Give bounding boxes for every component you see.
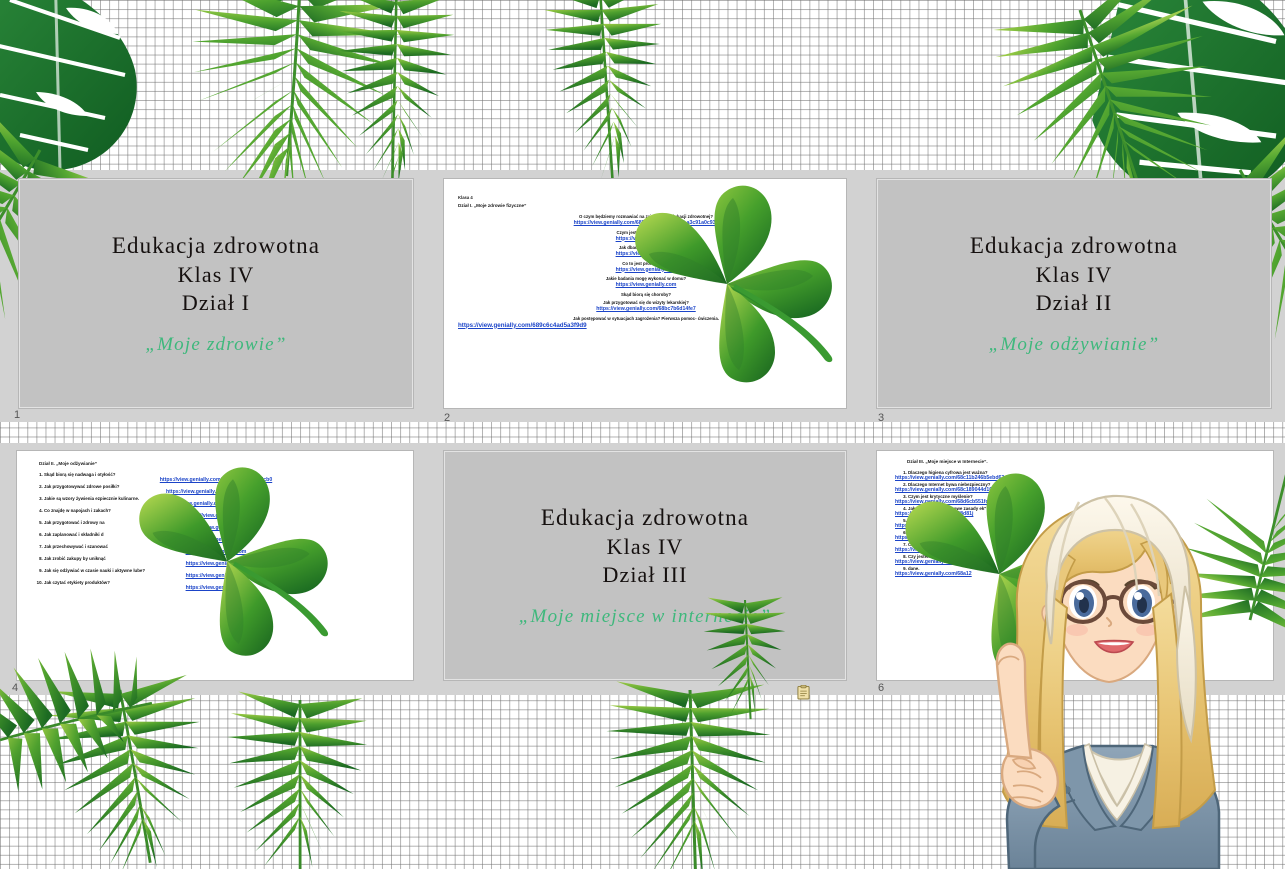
slide2-q-6: Skąd biorą się choroby?	[458, 292, 834, 297]
slide4-document: Dział II. „Moje odżywianie” Skąd biorą s…	[17, 451, 413, 680]
slide-number-1: 1	[14, 409, 20, 421]
slide6-link-4[interactable]: https://view.genially.com/68d81j	[895, 511, 1261, 517]
slide4-item-8: Jak zrobić zakupy by uniknąć https://vie…	[44, 556, 401, 567]
slide3-line-1: Edukacja zdrowotna	[970, 231, 1178, 260]
slide4-q-5: Jak przygotować i zdrowy na	[44, 520, 105, 525]
slide4-item-6: Jak zaplanować i składniki d https://vie…	[44, 532, 401, 543]
slide4-q-8: Jak zrobić zakupy by uniknąć	[44, 556, 106, 561]
slide4-link-1[interactable]: https://view.genially.com/689e21da4b525d…	[31, 477, 401, 483]
slide4-q-10: Jak czytać etykiety produktów?	[44, 580, 110, 585]
slide4-link-2[interactable]: https://view.genially.com/689d475c4eaa4	[31, 489, 401, 495]
slide6-item-8: Czy jestem anonimowy w https://view.geni…	[908, 554, 1261, 565]
slide6-link-9[interactable]: https://view.genially.com/68a12	[895, 571, 1261, 577]
slide6-item-3: Czym jest krytyczne myślenie? https://vi…	[908, 494, 1261, 505]
slide2-link-7[interactable]: https://view.genially.com/68bc7b6d14fe7	[458, 306, 834, 312]
slide1-line-1: Edukacja zdrowotna	[112, 231, 320, 260]
slide2-q-1: O czym będziemy rozmawiać na zajęciach z…	[458, 214, 834, 219]
slide-sorter-canvas: Edukacja zdrowotna Klas IV Dział I „Moje…	[0, 0, 1285, 869]
slide-number-4: 4	[12, 682, 18, 694]
slide4-q-1: Skąd biorą się nadwaga i otyłość?	[44, 472, 116, 477]
slide2-title: Dział I. „Moje zdrowie fizyczne”	[458, 203, 834, 208]
slide2-q-8: Jak postępować w sytuacjach zagrożenia? …	[458, 316, 834, 321]
slide4-link-6[interactable]: https://view.genially.com	[31, 537, 401, 543]
slide6-item-9: dane. https://view.genially.com/68a12	[908, 566, 1261, 577]
slide2-header: Klasa 4	[458, 195, 834, 200]
slide2-q-2: Czym jest zdrowy styl życia?	[458, 230, 834, 235]
slide4-q-2: Jak przygotowywać zdrowe posiłki?	[44, 484, 119, 489]
slide-number-6: 6	[878, 682, 884, 694]
slide2-link-4[interactable]: https://view.genially.com	[458, 267, 834, 273]
slide-number-2: 2	[444, 412, 450, 424]
slide4-link-10[interactable]: https://view.genially.com	[31, 585, 401, 591]
slide4-link-4[interactable]: https://view.genially.com	[31, 513, 401, 519]
slide5-line-3: Dział III	[602, 561, 687, 589]
slide3-accent: „Moje odżywianie”	[989, 334, 1160, 356]
slide6-item-5: Czym jest grooming? https://view.geniall…	[908, 518, 1261, 529]
slide-thumbnail-2[interactable]: Klasa 4 Dział I. „Moje zdrowie fizyczne”…	[443, 178, 847, 409]
slide4-item-10: Jak czytać etykiety produktów? https://v…	[44, 580, 401, 591]
slide4-q-7: Jak przechowywać i szanować	[44, 544, 108, 549]
slide6-item-4: Jak zaplanować "domowe zasady ek" https:…	[908, 506, 1261, 517]
slide2-q-4: Co to jest profilaktyka?	[458, 261, 834, 266]
slide1-accent: „Moje zdrowie”	[145, 334, 286, 356]
slide6-link-6[interactable]: https://view.genially.com/68da	[895, 535, 1261, 541]
slide5-accent: „Moje miejsce w internecie”	[519, 606, 771, 628]
slide-thumbnail-3[interactable]: Edukacja zdrowotna Klas IV Dział II „Moj…	[876, 178, 1272, 409]
slide4-link-5[interactable]: https://view.genially.com	[31, 525, 401, 531]
slide3-line-3: Dział II	[1036, 289, 1113, 317]
notes-clipboard-icon	[797, 685, 810, 700]
slide4-q-9: Jak się odżywiać w czasie nauki i aktywn…	[44, 568, 145, 573]
slide6-link-3[interactable]: https://view.genially.com/68d6cb551fc46a…	[895, 499, 1261, 505]
slide-thumbnail-4[interactable]: Dział II. „Moje odżywianie” Skąd biorą s…	[16, 450, 414, 681]
slide-thumbnail-6[interactable]: Dział III. „Moje miejsce w Internecie”. …	[876, 450, 1274, 681]
slide4-q-4: Co znajdę w napojach i zakach?	[44, 508, 111, 513]
slide2-link-1[interactable]: https://view.genially.com/6885-c0b0df7c-…	[458, 220, 834, 226]
slide4-link-8[interactable]: https://view.genially.com	[31, 561, 401, 567]
slides-layer: Edukacja zdrowotna Klas IV Dział I „Moje…	[0, 0, 1285, 869]
slide6-item-7: Czym jest cyberstalking? https://view.ge…	[908, 542, 1261, 553]
slide2-q-7: Jak przygotować się do wizyty lekarskiej…	[458, 300, 834, 305]
slide4-q-6: Jak zaplanować i składniki d	[44, 532, 104, 537]
slide-thumbnail-1[interactable]: Edukacja zdrowotna Klas IV Dział I „Moje…	[18, 178, 414, 409]
slide4-item-9: Jak się odżywiać w czasie nauki i aktywn…	[44, 568, 401, 579]
slide4-link-7[interactable]: https://view.genially.com	[31, 549, 401, 555]
slide2-link-2[interactable]: https://view.genially.com	[458, 236, 834, 242]
slide3-line-2: Klas IV	[1036, 261, 1113, 289]
slide6-link-1[interactable]: https://view.genially.com/68c11b246b5ebd…	[895, 475, 1261, 481]
slide2-q-3: Jak dbać o swoją higienę?	[458, 245, 834, 250]
slide4-item-3: Jakie są wzory żywienia ezpiecznie kulin…	[44, 496, 401, 507]
slide4-item-7: Jak przechowywać i szanować https://view…	[44, 544, 401, 555]
slide5-line-2: Klas IV	[607, 533, 684, 561]
slide6-link-2[interactable]: https://view.genially.com/68c189044d105c…	[895, 487, 1261, 493]
slide6-title: Dział III. „Moje miejsce w Internecie”.	[907, 459, 1261, 464]
slide-thumbnail-5[interactable]: Edukacja zdrowotna Klas IV Dział III „Mo…	[443, 450, 847, 681]
slide1-line-3: Dział I	[182, 289, 250, 317]
slide2-document: Klasa 4 Dział I. „Moje zdrowie fizyczne”…	[444, 179, 846, 408]
slide1-line-2: Klas IV	[178, 261, 255, 289]
slide6-link-8[interactable]: https://view.genially.com/68o	[895, 559, 1261, 565]
slide5-line-1: Edukacja zdrowotna	[541, 503, 749, 532]
slide6-link-7[interactable]: https://view.genially.com/68dt	[895, 547, 1261, 553]
slide4-title: Dział II. „Moje odżywianie”	[39, 461, 401, 466]
slide4-link-9[interactable]: https://view.genially.com	[31, 573, 401, 579]
slide4-item-5: Jak przygotować i zdrowy na https://view…	[44, 520, 401, 531]
slide2-q-5: Jakie badania mogę wykonać w domu?	[458, 276, 834, 281]
slide6-link-5[interactable]: https://view.genially.com/68d	[895, 523, 1261, 529]
slide6-document: Dział III. „Moje miejsce w Internecie”. …	[877, 451, 1273, 680]
slide4-item-2: Jak przygotowywać zdrowe posiłki? https:…	[44, 484, 401, 495]
slide4-item-4: Co znajdę w napojach i zakach? https://v…	[44, 508, 401, 519]
slide4-link-3[interactable]: https://view.genially.com/689ef90057ac56…	[31, 501, 401, 507]
slide2-link-3[interactable]: https://view.genially.com	[458, 251, 834, 257]
slide6-item-6: Czym jest dyskryminacja w https://view.g…	[908, 530, 1261, 541]
slide2-link-8[interactable]: https://view.genially.com/689c6c4ad5a3f9…	[458, 322, 834, 329]
slide2-link-5[interactable]: https://view.genially.com	[458, 282, 834, 288]
slide6-item-2: Dlaczego Internet bywa niebezpieczny? ht…	[908, 482, 1261, 493]
slide6-item-1: Dlaczego higiena cyfrowa jest ważna? htt…	[908, 470, 1261, 481]
slide-number-3: 3	[878, 412, 884, 424]
slide4-q-3: Jakie są wzory żywienia ezpiecznie kulin…	[44, 496, 139, 501]
slide4-item-1: Skąd biorą się nadwaga i otyłość? https:…	[44, 472, 401, 483]
